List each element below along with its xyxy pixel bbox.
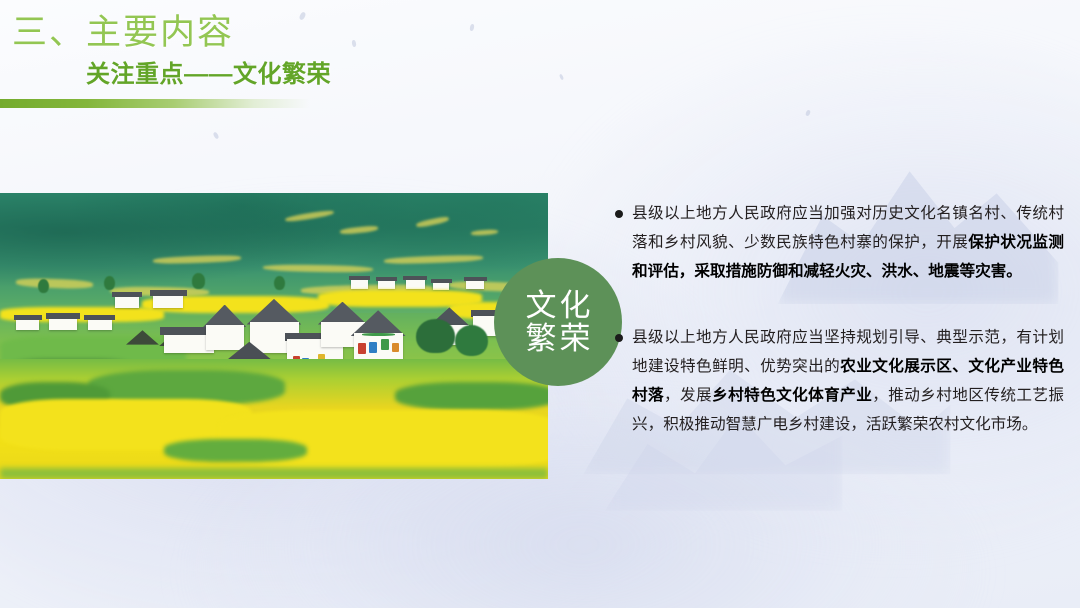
photo-roof [150, 290, 187, 296]
photo-house [351, 279, 369, 289]
bullet-item: 县级以上地方人民政府应当坚持规划引导、典型示范，有计划地建设特色鲜明、优势突出的… [612, 323, 1064, 439]
photo-mural-figure [358, 343, 366, 353]
photo-house [153, 295, 183, 308]
photo-house [378, 280, 394, 289]
photo-mural-arc [362, 333, 395, 336]
photo-mural-figure [369, 342, 377, 353]
photo-green-patch [0, 468, 548, 479]
photo-green-patch [395, 382, 548, 411]
page-subtitle: 关注重点——文化繁荣 [86, 54, 331, 89]
photo-house [206, 325, 244, 351]
photo-roof [46, 313, 80, 319]
bullet-dot-icon [615, 210, 623, 218]
culture-prosperity-badge: 文化 繁荣 [494, 258, 622, 386]
bullet-text: 县级以上地方人民政府应当坚持规划引导、典型示范，有计划地建设特色鲜明、优势突出的… [632, 329, 1064, 433]
photo-mural-figure [392, 343, 399, 352]
photo-house [466, 280, 485, 289]
village-photo-inner [0, 193, 548, 479]
bullet-dot-icon [615, 334, 623, 342]
photo-roof [376, 277, 397, 281]
photo-green-patch [164, 439, 306, 462]
photo-roof [14, 315, 41, 320]
bullet-text: 县级以上地方人民政府应当加强对历史文化名镇名村、传统村落和乡村风貌、少数民族特色… [632, 205, 1064, 280]
photo-house [88, 319, 112, 330]
header-rule [0, 99, 310, 108]
photo-house [433, 282, 449, 291]
photo-tree [455, 325, 488, 356]
village-photo [0, 193, 548, 479]
photo-roof [349, 276, 371, 280]
photo-tree [192, 273, 205, 288]
badge-line-1: 文化 [523, 289, 594, 322]
photo-house [115, 296, 139, 308]
photo-house [16, 319, 39, 330]
photo-roof [431, 279, 452, 283]
page-title: 三、主要内容 [12, 4, 234, 55]
content-bullets: 县级以上地方人民政府应当加强对历史文化名镇名村、传统村落和乡村风貌、少数民族特色… [612, 199, 1064, 439]
photo-roof [464, 277, 487, 281]
photo-tree [104, 276, 115, 290]
photo-tree [416, 319, 454, 353]
photo-roof [403, 276, 427, 280]
photo-roof [84, 315, 115, 320]
badge-line-2: 繁荣 [523, 322, 594, 355]
bullet-item: 县级以上地方人民政府应当加强对历史文化名镇名村、传统村落和乡村风貌、少数民族特色… [612, 199, 1064, 286]
photo-tree [274, 276, 285, 290]
photo-tree [38, 279, 49, 293]
slide-root: 三、主要内容 关注重点——文化繁荣 [0, 0, 1080, 608]
photo-roof [112, 292, 143, 297]
photo-mural-figure [381, 339, 389, 349]
photo-house [406, 279, 426, 289]
photo-house [49, 317, 76, 330]
slide-header: 三、主要内容 关注重点——文化繁荣 [0, 0, 1080, 112]
